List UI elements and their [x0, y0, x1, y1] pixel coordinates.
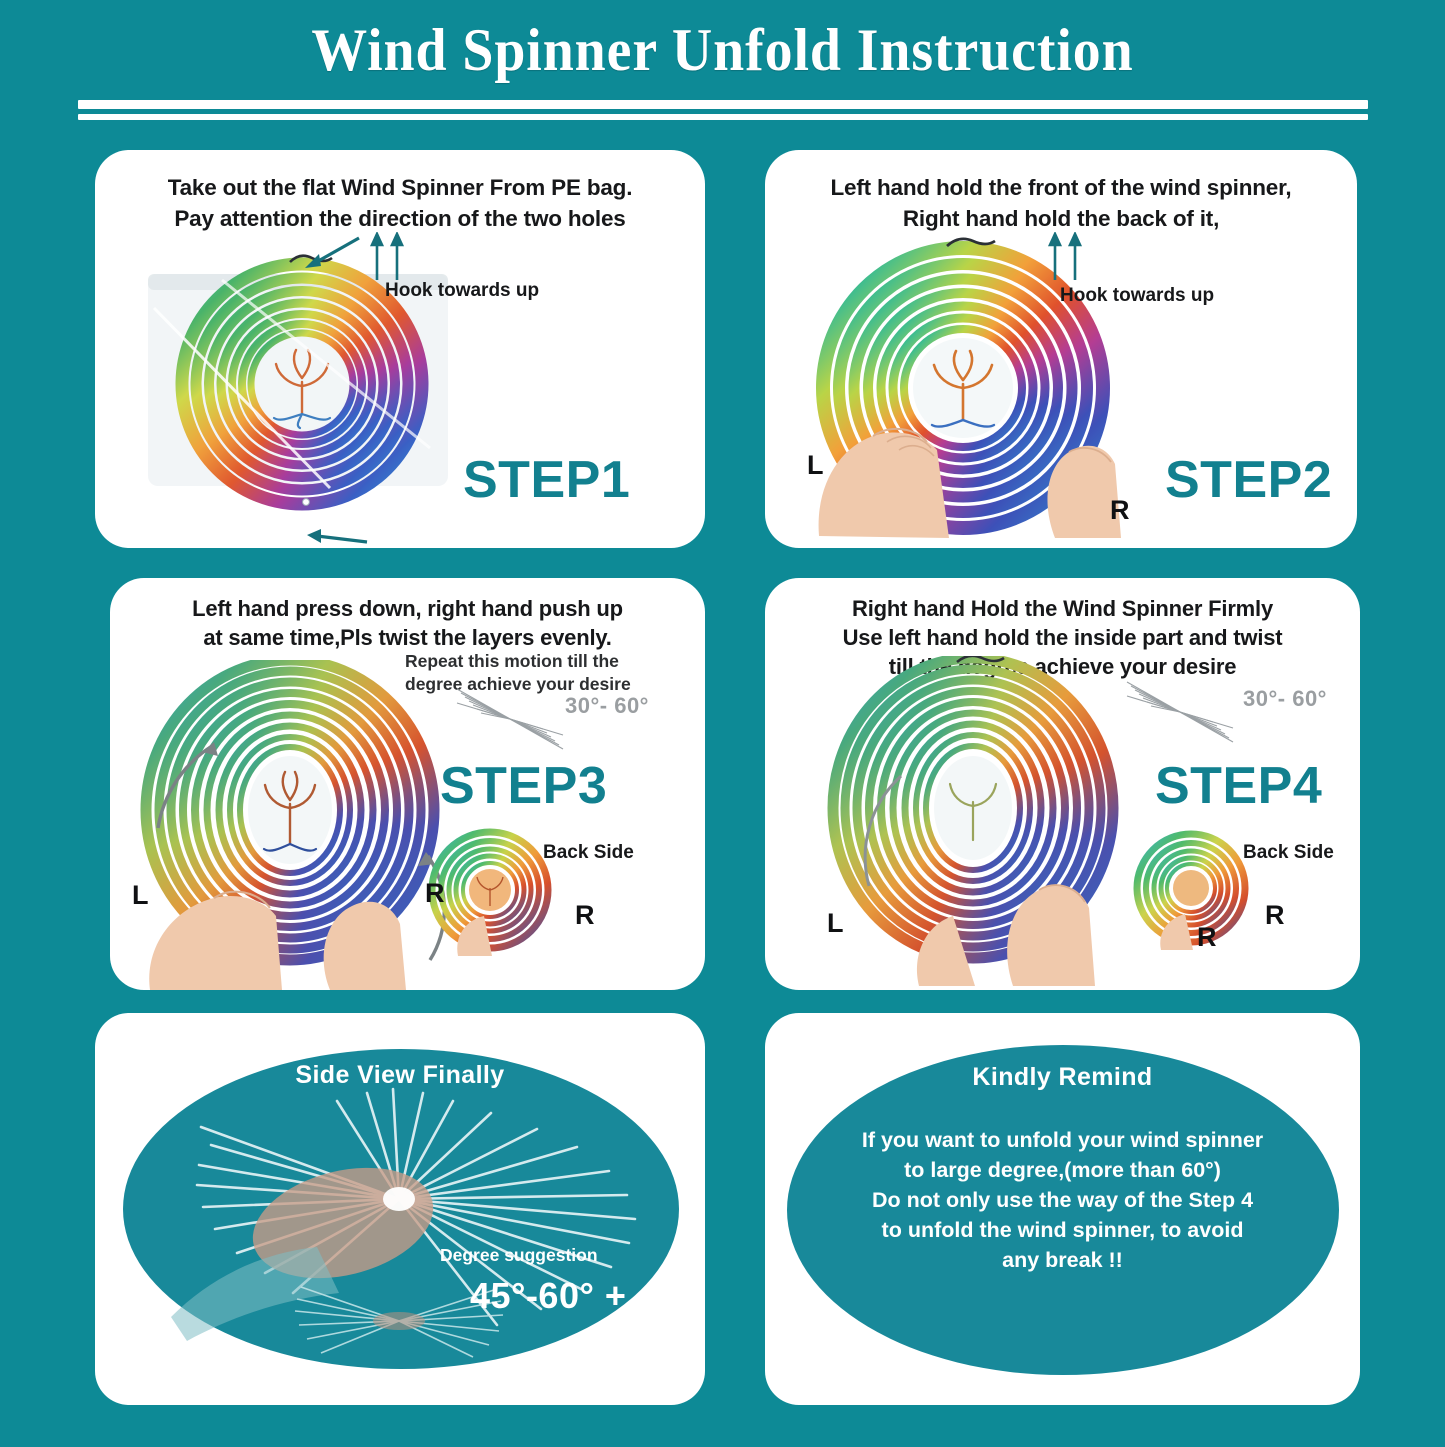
step2-hook-note: Hook towards up: [1060, 285, 1214, 307]
kindly-remind-title: Kindly Remind: [765, 1063, 1360, 1092]
right-hand-marker: R: [1110, 495, 1130, 526]
step4-backside-right-marker: R: [1265, 900, 1285, 931]
title-divider: [78, 100, 1368, 120]
step3-degree-range: 30°- 60°: [565, 693, 649, 719]
divider-line-top: [78, 100, 1368, 109]
step2-label: STEP2: [1165, 450, 1332, 510]
step1-label: STEP1: [463, 450, 630, 510]
divider-line-bottom: [78, 114, 1368, 120]
panel-side-view: Side View Finally: [95, 1013, 705, 1405]
step2-instruction: Left hand hold the front of the wind spi…: [765, 172, 1357, 234]
panel-step3: Left hand press down, right hand push up…: [110, 578, 705, 990]
hook-up-arrows: [367, 232, 413, 282]
step1-hook-note: Hook towards up: [385, 280, 539, 302]
step3-label: STEP3: [440, 756, 607, 816]
step4-illustration: [823, 656, 1173, 986]
degree-suggestion-value: 45°-60° +: [470, 1275, 626, 1317]
step4-backside-label: Back Side: [1243, 842, 1334, 864]
page-title: Wind Spinner Unfold Instruction: [51, 16, 1395, 85]
step4-degree-range: 30°- 60°: [1243, 686, 1327, 712]
step3-backside-right-marker: R: [575, 900, 595, 931]
panel-step1: Take out the flat Wind Spinner From PE b…: [95, 150, 705, 548]
left-hand-marker: L: [132, 880, 149, 911]
panel-step4: Right hand Hold the Wind Spinner Firmly …: [765, 578, 1360, 990]
panel-step2: Left hand hold the front of the wind spi…: [765, 150, 1357, 548]
step3-backside-illustration: [428, 826, 558, 956]
step3-instruction: Left hand press down, right hand push up…: [110, 594, 705, 652]
step2-illustration: [803, 236, 1133, 546]
panel-kindly-remind: Kindly Remind If you want to unfold your…: [765, 1013, 1360, 1405]
degree-suggestion-label: Degree suggestion: [440, 1245, 598, 1266]
step4-backside-illustration: [1133, 830, 1253, 950]
step3-backside-label: Back Side: [543, 842, 634, 864]
kindly-remind-body: If you want to unfold your wind spinner …: [765, 1125, 1360, 1275]
side-view-title: Side View Finally: [95, 1061, 705, 1090]
right-hand-marker: R: [425, 878, 445, 909]
hole-pointer-arrow-bottom: [301, 526, 371, 548]
hand-left-icon: [149, 896, 282, 990]
step1-instruction: Take out the flat Wind Spinner From PE b…: [95, 172, 705, 234]
hook-up-arrows: [1045, 232, 1091, 282]
left-hand-marker: L: [827, 908, 844, 939]
hole-pointer-arrow-top: [301, 234, 363, 270]
left-hand-marker: L: [807, 450, 824, 481]
right-hand-marker: R: [1197, 922, 1217, 953]
step4-label: STEP4: [1155, 756, 1322, 816]
